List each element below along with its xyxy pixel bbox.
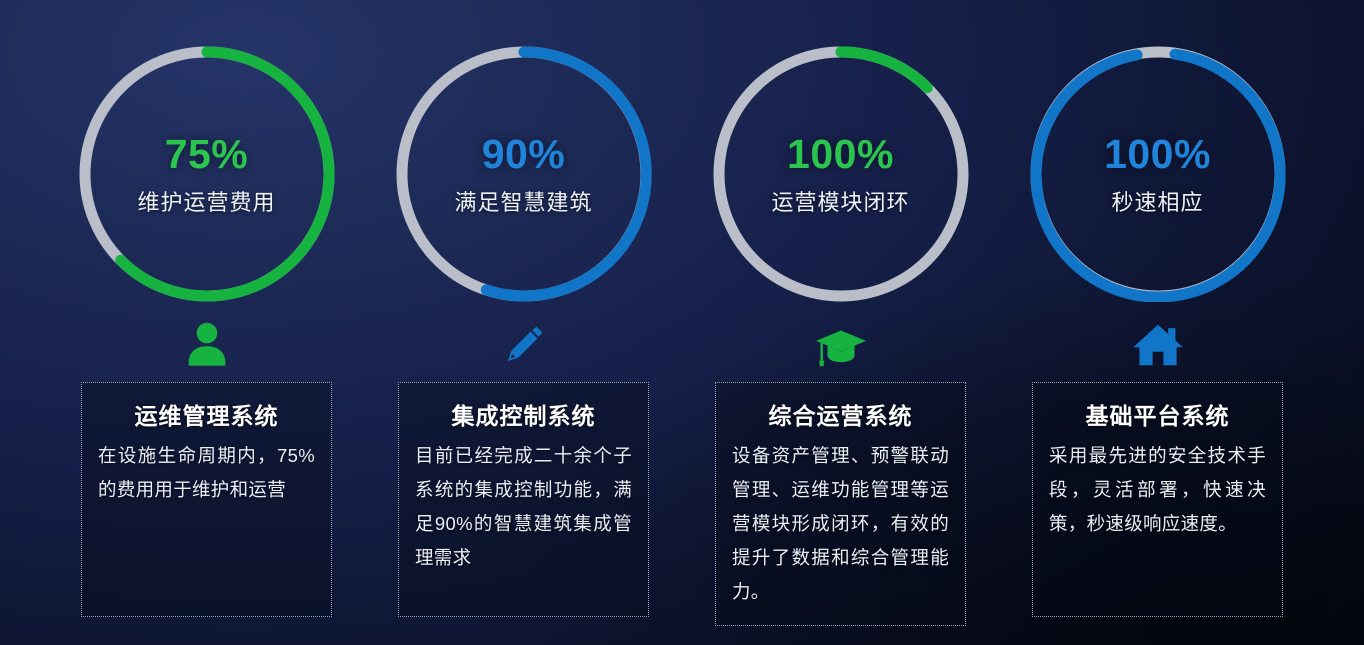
donut-gauge-1: 75% 维护运营费用 xyxy=(79,46,335,302)
donut-gauge-svg-1 xyxy=(79,46,335,302)
gauge-arc-2 xyxy=(486,52,646,296)
card-body-4: 采用最先进的安全技术手段，灵活部署，快速决策，秒速级响应速度。 xyxy=(1049,439,1266,541)
infographic-stage: 75% 维护运营费用 运维管理系统 在设施生命周期内，75%的费用用于维护和运营 xyxy=(0,0,1364,645)
card-title-3: 综合运营系统 xyxy=(732,397,949,431)
gauge-arc-4 xyxy=(1036,54,1280,297)
card-title-4: 基础平台系统 xyxy=(1049,397,1266,431)
pencil-icon xyxy=(498,314,550,376)
graduation-cap-icon-svg xyxy=(814,318,868,372)
donut-gauge-2: 90% 满足智慧建筑 xyxy=(396,46,652,302)
donut-gauge-svg-4 xyxy=(1030,46,1286,302)
card-title-1: 运维管理系统 xyxy=(98,397,315,431)
card-body-2: 目前已经完成二十余个子系统的集成控制功能，满足90%的智慧建筑集成管理需求 xyxy=(415,439,632,575)
metric-column-3: 100% 运营模块闭环 综合运营系统 设备资产管理、预警联动管理、运维功能管理等… xyxy=(682,0,999,645)
house-icon xyxy=(1131,314,1185,376)
info-card-3: 综合运营系统 设备资产管理、预警联动管理、运维功能管理等运营模块形成闭环，有效的… xyxy=(715,382,966,626)
donut-gauge-svg-3 xyxy=(713,46,969,302)
donut-gauge-svg-2 xyxy=(396,46,652,302)
metric-column-1: 75% 维护运营费用 运维管理系统 在设施生命周期内，75%的费用用于维护和运营 xyxy=(48,0,365,645)
metric-column-2: 90% 满足智慧建筑 集成控制系统 目前已经完成二十余个子系统的集成控制功能，满… xyxy=(365,0,682,645)
person-icon-svg xyxy=(181,319,233,371)
metric-columns: 75% 维护运营费用 运维管理系统 在设施生命周期内，75%的费用用于维护和运营 xyxy=(0,0,1364,645)
card-title-2: 集成控制系统 xyxy=(415,397,632,431)
metric-column-4: 100% 秒速相应 基础平台系统 采用最先进的安全技术手段，灵活部署，快速决策，… xyxy=(999,0,1316,645)
info-card-4: 基础平台系统 采用最先进的安全技术手段，灵活部署，快速决策，秒速级响应速度。 xyxy=(1032,382,1283,617)
card-body-1: 在设施生命周期内，75%的费用用于维护和运营 xyxy=(98,439,315,507)
card-body-3: 设备资产管理、预警联动管理、运维功能管理等运营模块形成闭环，有效的提升了数据和综… xyxy=(732,439,949,609)
person-icon xyxy=(181,314,233,376)
graduation-cap-icon xyxy=(814,314,868,376)
house-icon-svg xyxy=(1131,318,1185,372)
info-card-2: 集成控制系统 目前已经完成二十余个子系统的集成控制功能，满足90%的智慧建筑集成… xyxy=(398,382,649,617)
gauge-arc-3 xyxy=(841,52,927,88)
donut-gauge-3: 100% 运营模块闭环 xyxy=(713,46,969,302)
info-card-1: 运维管理系统 在设施生命周期内，75%的费用用于维护和运营 xyxy=(81,382,332,617)
pencil-icon-svg xyxy=(498,319,550,371)
gauge-arc-1 xyxy=(120,52,328,296)
donut-gauge-4: 100% 秒速相应 xyxy=(1030,46,1286,302)
